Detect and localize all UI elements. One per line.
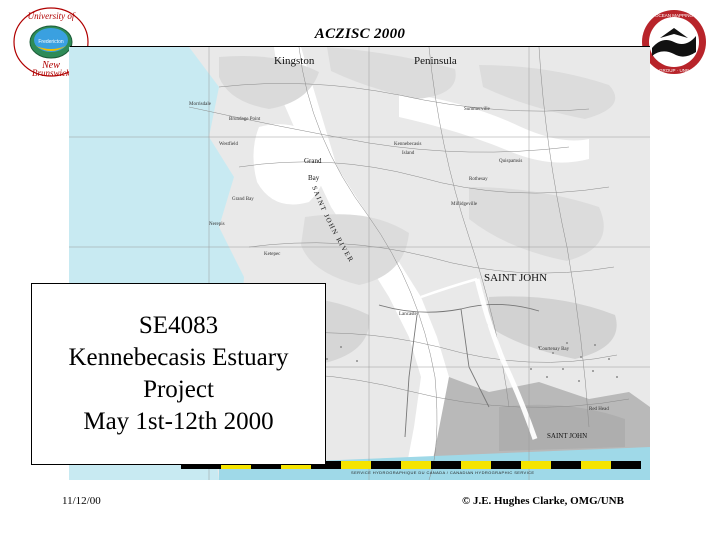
map-label-summerville: Summerville <box>464 107 490 112</box>
slide: University of Fredericton New Brunswick … <box>0 0 720 540</box>
map-label-kingston: Kingston <box>274 55 314 67</box>
map-label-lancaster: Lancaster <box>399 312 418 317</box>
map-label-rothesay: Rothesay <box>469 177 488 182</box>
svg-text:OCEAN MAPPING: OCEAN MAPPING <box>655 13 694 18</box>
svg-text:University of: University of <box>28 11 76 21</box>
title-line-1: SE4083 <box>139 310 218 342</box>
map-label-saint-john: SAINT JOHN <box>484 272 547 284</box>
slide-credit: © J.E. Hughes Clarke, OMG/UNB <box>462 495 624 507</box>
slide-date: 11/12/00 <box>62 495 101 507</box>
title-box: SE4083 Kennebecasis Estuary Project May … <box>31 283 326 465</box>
title-line-4: May 1st-12th 2000 <box>83 406 273 438</box>
map-label-kennebecasis: Kennebecasis <box>394 142 422 147</box>
map-label-saint-john-south: SAINT JOHN <box>547 432 587 440</box>
title-line-2: Kennebecasis Estuary <box>68 342 288 374</box>
map-label-westfield: Westfield <box>219 142 238 147</box>
map-label-grand-bay: Grand Bay <box>232 197 254 202</box>
svg-text:GROUP · UNB: GROUP · UNB <box>659 68 689 73</box>
map-label-courtenay-bay: Courtenay Bay <box>539 347 569 352</box>
map-label-grand: Grand <box>304 157 322 165</box>
map-label-millidgeville: Millidgeville <box>451 202 477 207</box>
title-line-3: Project <box>143 374 214 406</box>
map-label-brundage-point: Brundage Point <box>229 117 260 122</box>
map-label-bay: Bay <box>308 174 319 182</box>
svg-text:Brunswick: Brunswick <box>32 68 71 78</box>
scale-bar-caption: SERVICE HYDROGRAPHIQUE DU CANADA / CANAD… <box>351 470 534 475</box>
map-label-nerepis: Nerepis <box>209 222 225 227</box>
map-label-island: Island <box>402 151 414 156</box>
map-label-ketepec: Ketepec <box>264 252 280 257</box>
map-label-morrisdale: Morrisdale <box>189 102 211 107</box>
map-label-red-head: Red Head <box>589 407 609 412</box>
presentation-header-title: ACZISC 2000 <box>0 26 720 43</box>
map-label-peninsula: Peninsula <box>414 55 457 67</box>
map-label-quispamsis: Quispamsis <box>499 159 522 164</box>
